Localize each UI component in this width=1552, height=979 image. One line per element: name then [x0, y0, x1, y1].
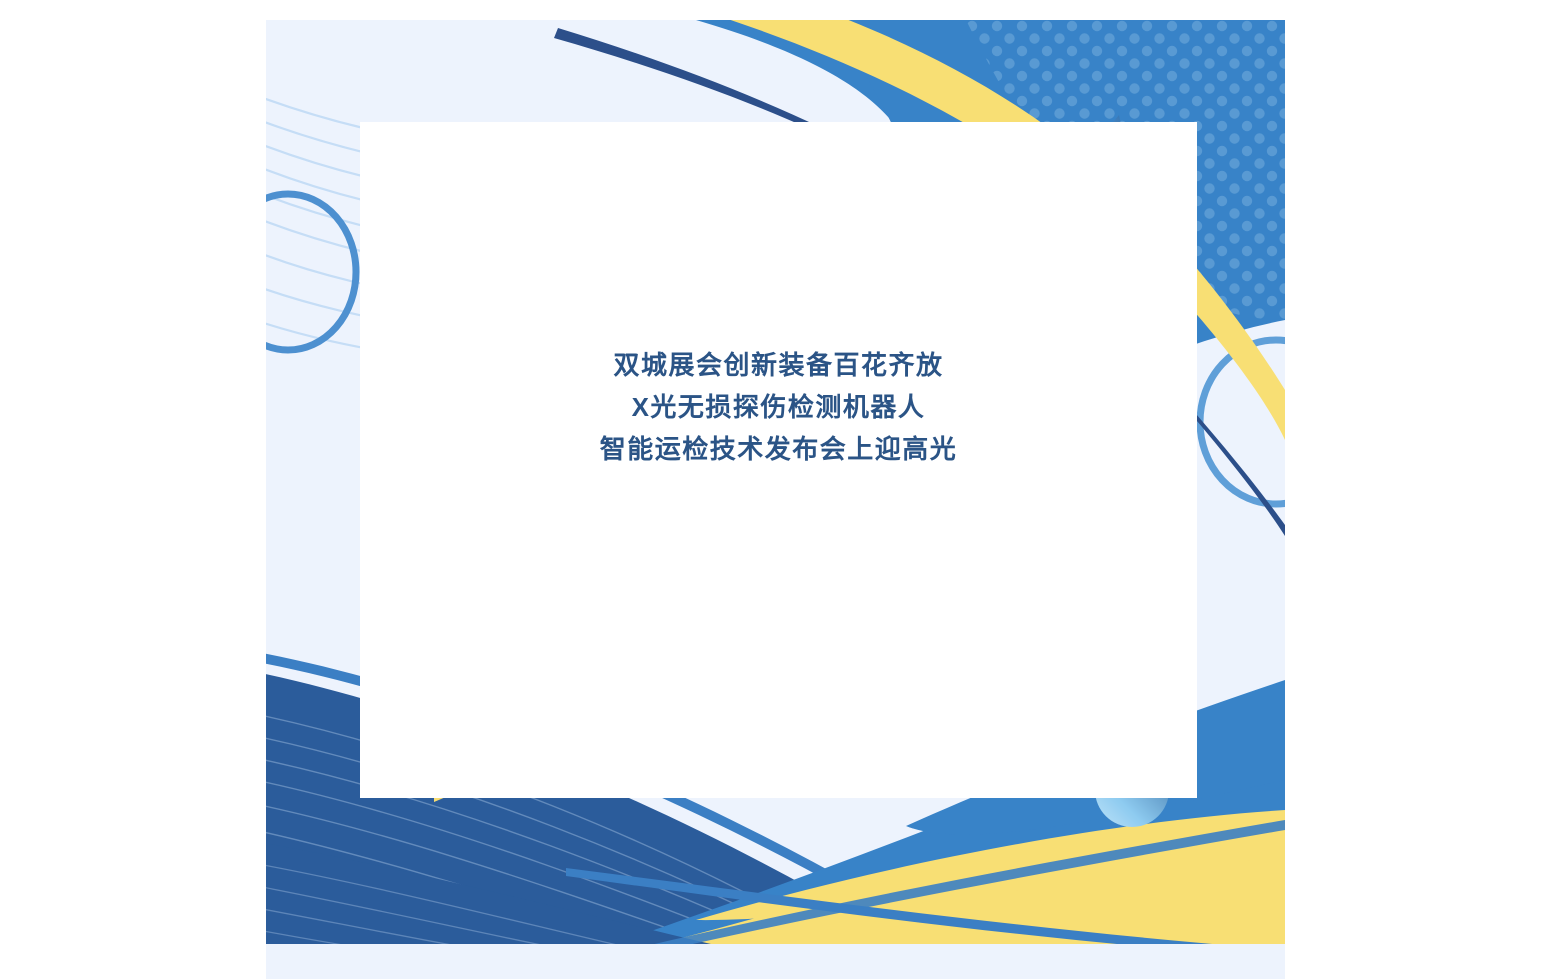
headline-line-1: 双城展会创新装备百花齐放 [360, 344, 1197, 386]
slide-canvas: 双城展会创新装备百花齐放 X光无损探伤检测机器人 智能运检技术发布会上迎高光 [266, 20, 1285, 979]
headline-line-2: X光无损探伤检测机器人 [360, 386, 1197, 428]
poster-root: 双城展会创新装备百花齐放 X光无损探伤检测机器人 智能运检技术发布会上迎高光 [0, 0, 1552, 979]
headline-block: 双城展会创新装备百花齐放 X光无损探伤检测机器人 智能运检技术发布会上迎高光 [360, 344, 1197, 470]
content-card: 双城展会创新装备百花齐放 X光无损探伤检测机器人 智能运检技术发布会上迎高光 [360, 122, 1197, 798]
headline-line-3: 智能运检技术发布会上迎高光 [360, 428, 1197, 470]
